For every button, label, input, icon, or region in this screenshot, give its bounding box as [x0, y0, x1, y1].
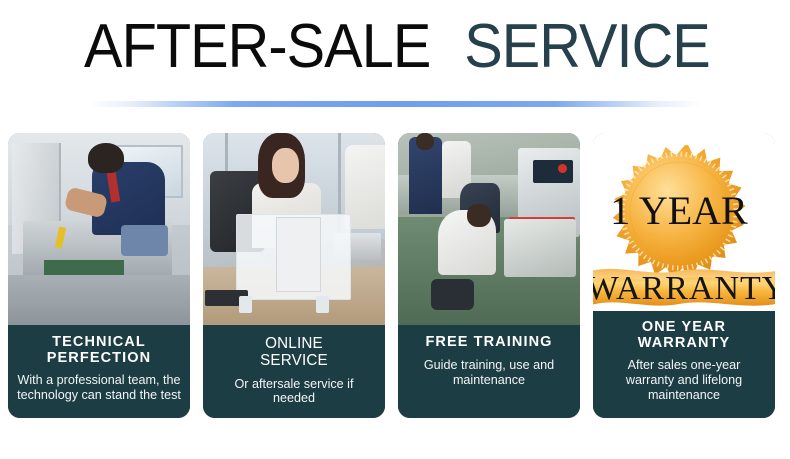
- card-title: FREE TRAINING: [406, 335, 572, 351]
- badge-top-text: 1 YEAR: [610, 188, 748, 233]
- card-title: ONLINE SERVICE: [215, 335, 373, 370]
- banner-header: AFTER-SALESERVICE: [0, 0, 790, 110]
- warranty-seal-icon: 1 YEAR WARRANTY: [593, 133, 775, 311]
- card-text-panel: TECHNICAL PERFECTION With a professional…: [8, 325, 190, 418]
- card-image: [203, 133, 385, 325]
- feature-card[interactable]: ONLINE SERVICE Or aftersale service if n…: [203, 133, 385, 418]
- card-text-panel: ONLINE SERVICE Or aftersale service if n…: [203, 325, 385, 418]
- card-image: 1 YEAR WARRANTY: [593, 133, 775, 311]
- card-image: [8, 133, 190, 325]
- card-description: After sales one-year warranty and lifelo…: [601, 358, 767, 403]
- card-text-panel: ONE YEAR WARRANTY After sales one-year w…: [593, 311, 775, 418]
- page-title-primary: AFTER-SALE: [84, 16, 430, 78]
- badge-ribbon-text: WARRANTY: [593, 270, 775, 307]
- card-description: Or aftersale service if needed: [211, 377, 377, 407]
- graphic-warranty-seal: 1 YEAR WARRANTY: [593, 133, 775, 311]
- feature-card[interactable]: 1 YEAR WARRANTY ONE YEAR WARRANTY After …: [593, 133, 775, 418]
- feature-card[interactable]: TECHNICAL PERFECTION With a professional…: [8, 133, 190, 418]
- card-description: With a professional team, the technology…: [16, 373, 182, 403]
- feature-card-grid: TECHNICAL PERFECTION With a professional…: [8, 133, 782, 421]
- card-title: TECHNICAL PERFECTION: [16, 335, 182, 366]
- title-divider: [88, 101, 702, 107]
- page-title: AFTER-SALESERVICE: [0, 16, 790, 78]
- card-title: ONE YEAR WARRANTY: [601, 320, 767, 351]
- page-title-accent: SERVICE: [464, 16, 710, 78]
- card-image: [398, 133, 580, 325]
- feature-card[interactable]: FREE TRAINING Guide training, use and ma…: [398, 133, 580, 418]
- card-description: Guide training, use and maintenance: [406, 358, 572, 388]
- photo-woman-at-office-desk: [203, 133, 385, 325]
- photo-training-on-factory-floor: [398, 133, 580, 325]
- card-text-panel: FREE TRAINING Guide training, use and ma…: [398, 325, 580, 418]
- photo-technician-at-machine: [8, 133, 190, 325]
